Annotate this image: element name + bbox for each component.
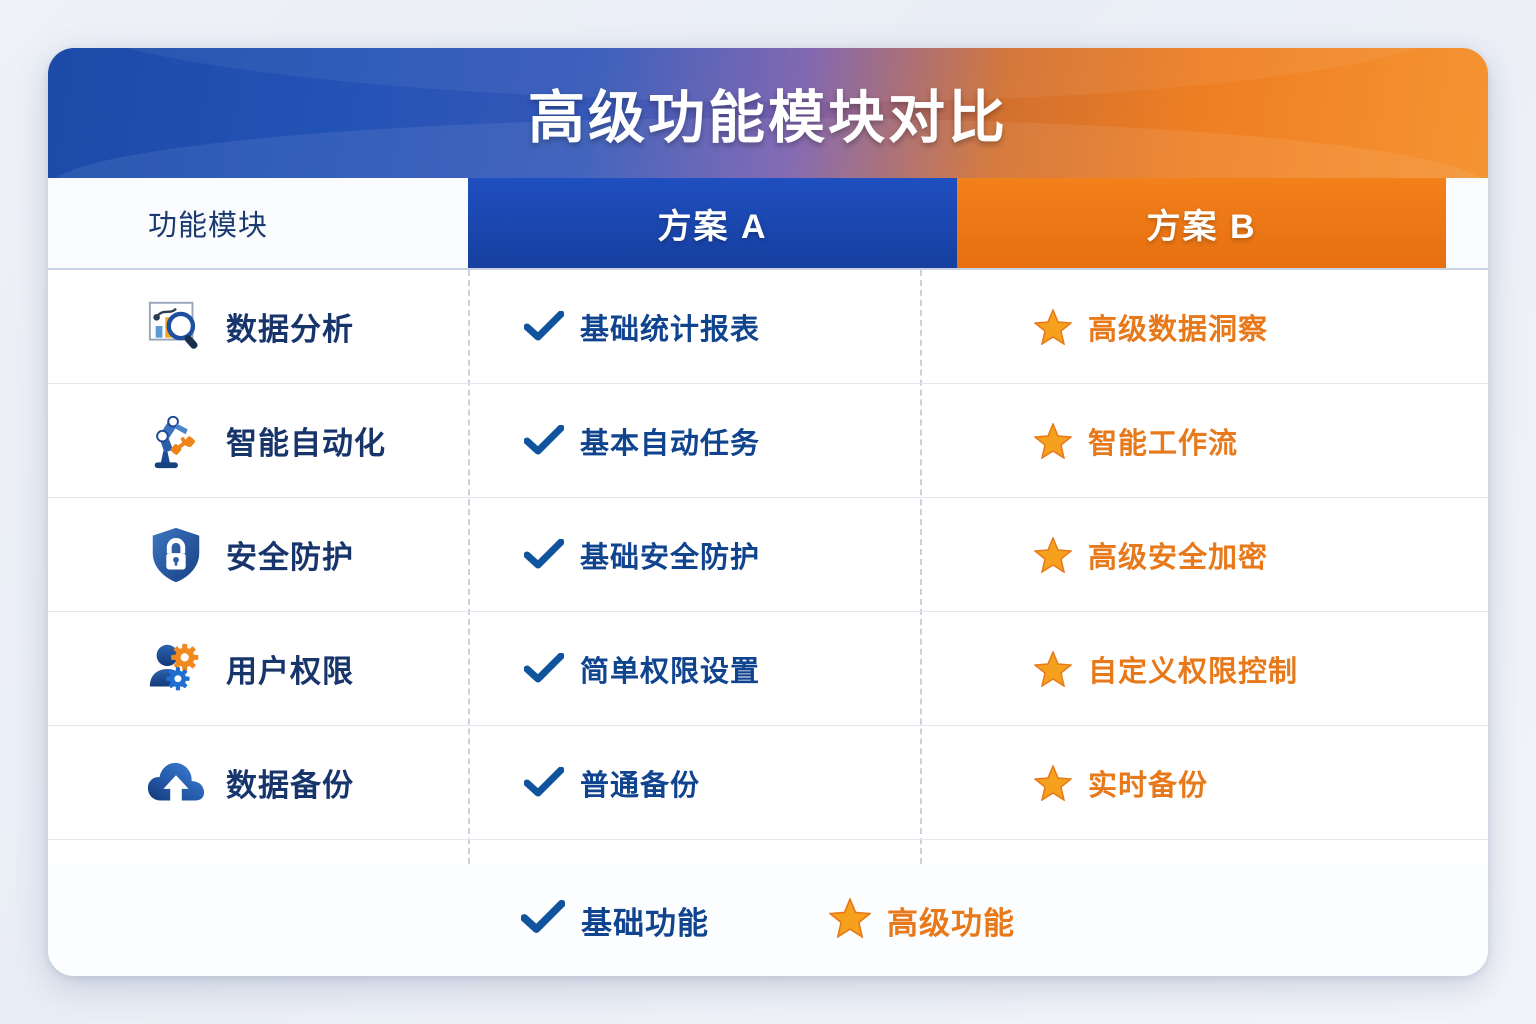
page-title: 高级功能模块对比 xyxy=(528,72,1008,154)
plan-a-text: 简单权限设置 xyxy=(580,648,760,690)
feature-cell: 安全防护 xyxy=(48,523,468,587)
legend-basic-label: 基础功能 xyxy=(581,898,709,943)
feature-cell: 智能自动化 xyxy=(48,409,468,473)
feature-label: 数据分析 xyxy=(226,304,354,349)
star-icon xyxy=(1034,423,1072,459)
plan-b-text: 高级安全加密 xyxy=(1088,534,1268,576)
star-icon xyxy=(1034,765,1072,801)
plan-b-text: 智能工作流 xyxy=(1088,420,1238,462)
plan-b-cell: 智能工作流 xyxy=(978,420,1488,462)
column-header-plan-b: 方案 B xyxy=(957,178,1446,268)
user-gears-icon xyxy=(144,637,208,701)
table-row[interactable]: 数据备份 普通备份 实时备份 xyxy=(48,726,1488,840)
table-row[interactable]: 安全防护 基础安全防护 高级安全加密 xyxy=(48,498,1488,612)
plan-a-text: 基本自动任务 xyxy=(580,420,760,462)
plan-a-cell: 简单权限设置 xyxy=(468,648,978,690)
cloud-upload-icon xyxy=(144,751,208,815)
table-row[interactable]: 数据分析 基础统计报表 高级数据洞察 xyxy=(48,270,1488,384)
plan-a-cell: 基础统计报表 xyxy=(468,306,978,348)
feature-cell: 数据备份 xyxy=(48,751,468,815)
plan-a-text: 基础安全防护 xyxy=(580,534,760,576)
legend-advanced-label: 高级功能 xyxy=(887,898,1015,943)
feature-label: 用户权限 xyxy=(226,646,354,691)
plan-b-cell: 自定义权限控制 xyxy=(978,648,1488,690)
header-spacer xyxy=(1446,178,1488,268)
table-body: 数据分析 基础统计报表 高级数据洞察 xyxy=(48,270,1488,864)
legend: 基础功能 高级功能 xyxy=(48,864,1488,976)
check-icon xyxy=(524,653,564,685)
star-icon xyxy=(1034,537,1072,573)
star-icon xyxy=(1034,309,1072,345)
star-icon xyxy=(1034,651,1072,687)
feature-label: 数据备份 xyxy=(226,760,354,805)
feature-label: 智能自动化 xyxy=(226,418,386,463)
table-header-row: 功能模块 方案 A 方案 B xyxy=(48,178,1488,270)
plan-a-text: 普通备份 xyxy=(580,762,700,804)
plan-a-cell: 基础安全防护 xyxy=(468,534,978,576)
check-icon xyxy=(524,539,564,571)
title-bar: 高级功能模块对比 xyxy=(48,48,1488,178)
plan-b-text: 自定义权限控制 xyxy=(1088,648,1298,690)
feature-label: 安全防护 xyxy=(226,532,354,577)
check-icon xyxy=(521,900,565,941)
legend-item-advanced: 高级功能 xyxy=(829,898,1015,943)
plan-a-text: 基础统计报表 xyxy=(580,306,760,348)
check-icon xyxy=(524,311,564,343)
table-row[interactable]: 智能自动化 基本自动任务 智能工作流 xyxy=(48,384,1488,498)
column-header-plan-a: 方案 A xyxy=(468,178,957,268)
check-icon xyxy=(524,425,564,457)
table-row[interactable]: 用户权限 简单权限设置 自定义权限控制 xyxy=(48,612,1488,726)
plan-b-text: 实时备份 xyxy=(1088,762,1208,804)
feature-cell: 数据分析 xyxy=(48,295,468,359)
check-icon xyxy=(524,767,564,799)
chart-magnifier-icon xyxy=(144,295,208,359)
plan-b-cell: 高级安全加密 xyxy=(978,534,1488,576)
star-icon xyxy=(829,898,871,943)
comparison-card: 高级功能模块对比 功能模块 方案 A 方案 B xyxy=(48,48,1488,976)
shield-lock-icon xyxy=(144,523,208,587)
plan-b-text: 高级数据洞察 xyxy=(1088,306,1268,348)
plan-b-cell: 高级数据洞察 xyxy=(978,306,1488,348)
column-header-feature: 功能模块 xyxy=(48,178,468,268)
plan-a-cell: 基本自动任务 xyxy=(468,420,978,462)
plan-a-cell: 普通备份 xyxy=(468,762,978,804)
plan-b-cell: 实时备份 xyxy=(978,762,1488,804)
robot-arm-icon xyxy=(144,409,208,473)
feature-cell: 用户权限 xyxy=(48,637,468,701)
legend-item-basic: 基础功能 xyxy=(521,898,709,943)
